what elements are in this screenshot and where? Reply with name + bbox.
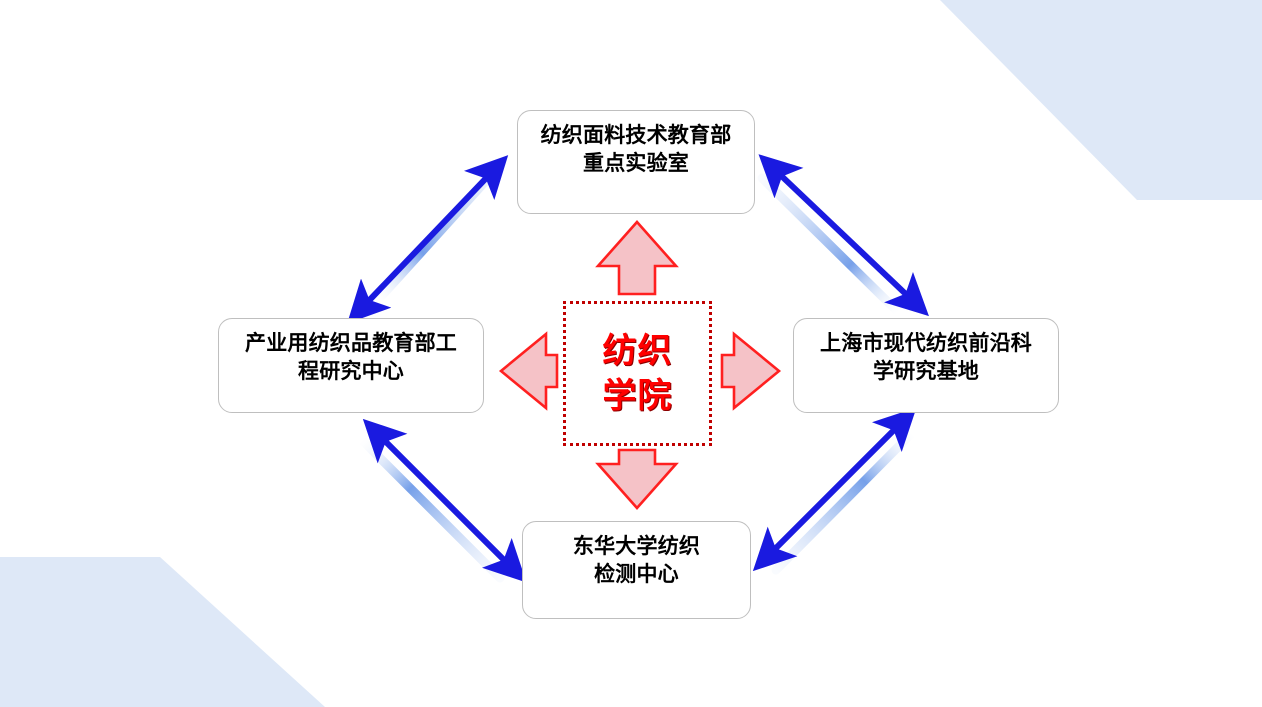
connector-bottom-left-dark-arrow[interactable]	[376, 432, 510, 566]
connector-bottom-right-light-stripe	[776, 433, 912, 570]
red-arrow-right-icon[interactable]	[722, 334, 779, 408]
connector-top-right[interactable]	[762, 167, 912, 312]
connector-bottom-right-dark-arrow[interactable]	[766, 424, 900, 558]
background-triangle-bottom-left-icon	[0, 557, 400, 707]
connector-bottom-right[interactable]	[766, 424, 912, 570]
node-label-right: 上海市现代纺织前沿科 学研究基地	[806, 319, 1046, 386]
connector-bottom-left-light-stripe	[362, 440, 500, 578]
node-label-top: 纺织面料技术教育部 重点实验室	[527, 111, 746, 178]
node-box-left[interactable]: 产业用纺织品教育部工 程研究中心	[218, 318, 484, 413]
node-label-left: 产业用纺织品教育部工 程研究中心	[231, 319, 471, 386]
red-arrow-left-icon[interactable]	[501, 334, 557, 408]
node-box-right[interactable]: 上海市现代纺织前沿科 学研究基地	[793, 318, 1059, 413]
node-box-center[interactable]: 纺织 学院	[563, 301, 712, 446]
background-triangle-top-right-icon	[902, 0, 1262, 200]
red-arrow-up-icon[interactable]	[598, 222, 676, 294]
connector-top-left[interactable]	[360, 163, 502, 310]
node-box-bottom[interactable]: 东华大学纺织 检测中心	[522, 521, 751, 619]
node-label-center: 纺织 学院	[603, 329, 673, 417]
slide-canvas: 纺织面料技术教育部 重点实验室 产业用纺织品教育部工 程研究中心 上海市现代纺织…	[0, 0, 1262, 707]
connector-top-right-dark-arrow[interactable]	[772, 167, 912, 300]
connector-top-left-dark-arrow[interactable]	[360, 172, 492, 310]
node-box-top[interactable]: 纺织面料技术教育部 重点实验室	[517, 110, 755, 214]
node-label-bottom: 东华大学纺织 检测中心	[559, 522, 714, 589]
connector-bottom-left[interactable]	[362, 432, 510, 578]
red-arrow-down-icon[interactable]	[598, 450, 676, 508]
connector-top-right-light-stripe	[762, 178, 898, 312]
